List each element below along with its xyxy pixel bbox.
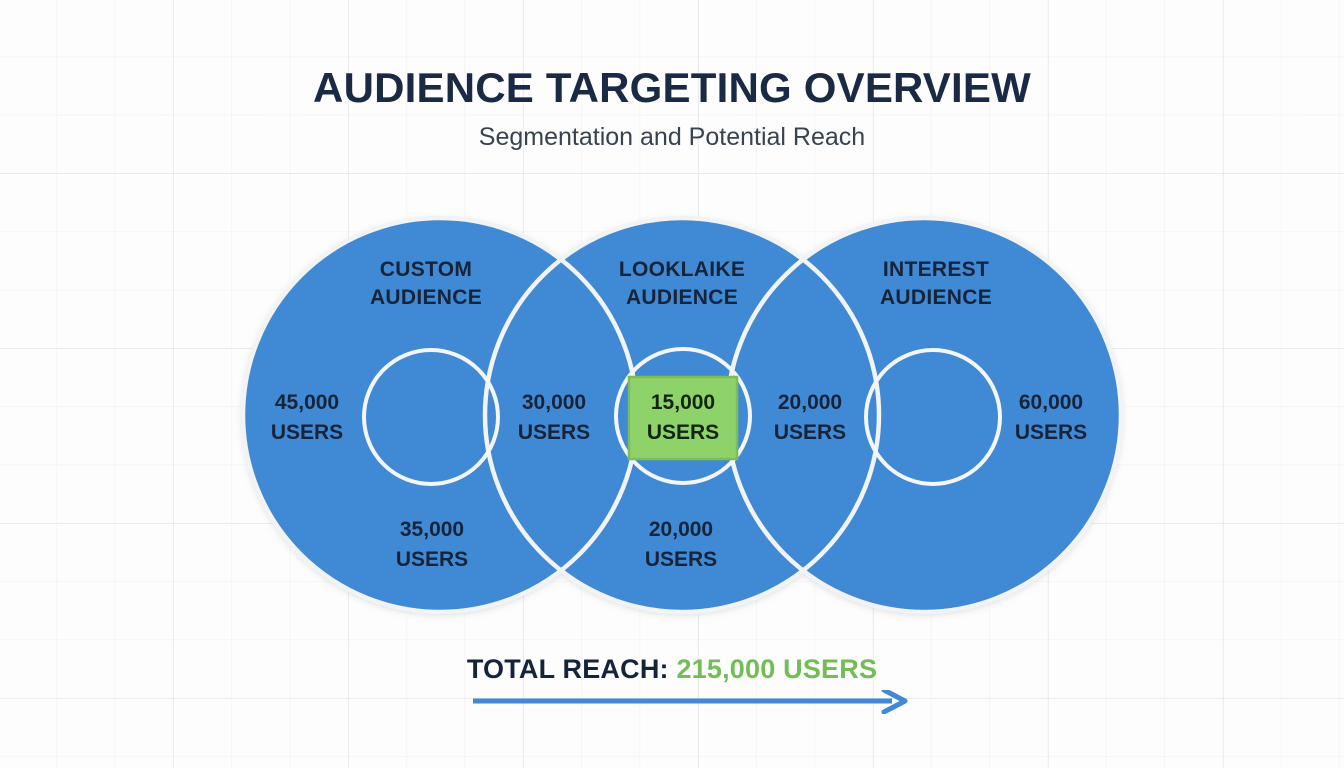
venn-region-value-custom-lookalike: 30,000 USERS xyxy=(483,388,625,448)
footer-total-reach: TOTAL REACH: 215,000 USERS xyxy=(0,655,1344,685)
total-reach-line: TOTAL REACH: 215,000 USERS xyxy=(0,655,1344,685)
venn-set-label-custom: CUSTOM AUDIENCE xyxy=(330,256,522,311)
arrow-right-icon xyxy=(0,690,1344,714)
venn-svg xyxy=(0,0,1344,768)
venn-set-label-lookalike: LOOKLAIKE AUDIENCE xyxy=(586,256,778,311)
total-reach-value: 215,000 USERS xyxy=(676,654,877,684)
venn-region-value-custom-only: 45,000 USERS xyxy=(236,388,378,448)
venn-region-value-lookalike-lower: 20,000 USERS xyxy=(610,515,752,575)
venn-region-value-custom-lower: 35,000 USERS xyxy=(361,515,503,575)
venn-region-value-lookalike-interest: 20,000 USERS xyxy=(739,388,881,448)
venn-set-label-interest: INTEREST AUDIENCE xyxy=(840,256,1032,311)
venn-region-value-all-three: 15,000 USERS xyxy=(612,388,754,448)
venn-region-value-interest-only: 60,000 USERS xyxy=(980,388,1122,448)
venn-diagram: CUSTOM AUDIENCE LOOKLAIKE AUDIENCE INTER… xyxy=(0,0,1344,768)
total-reach-label: TOTAL REACH: xyxy=(467,654,669,684)
total-reach-arrow xyxy=(0,690,1344,714)
